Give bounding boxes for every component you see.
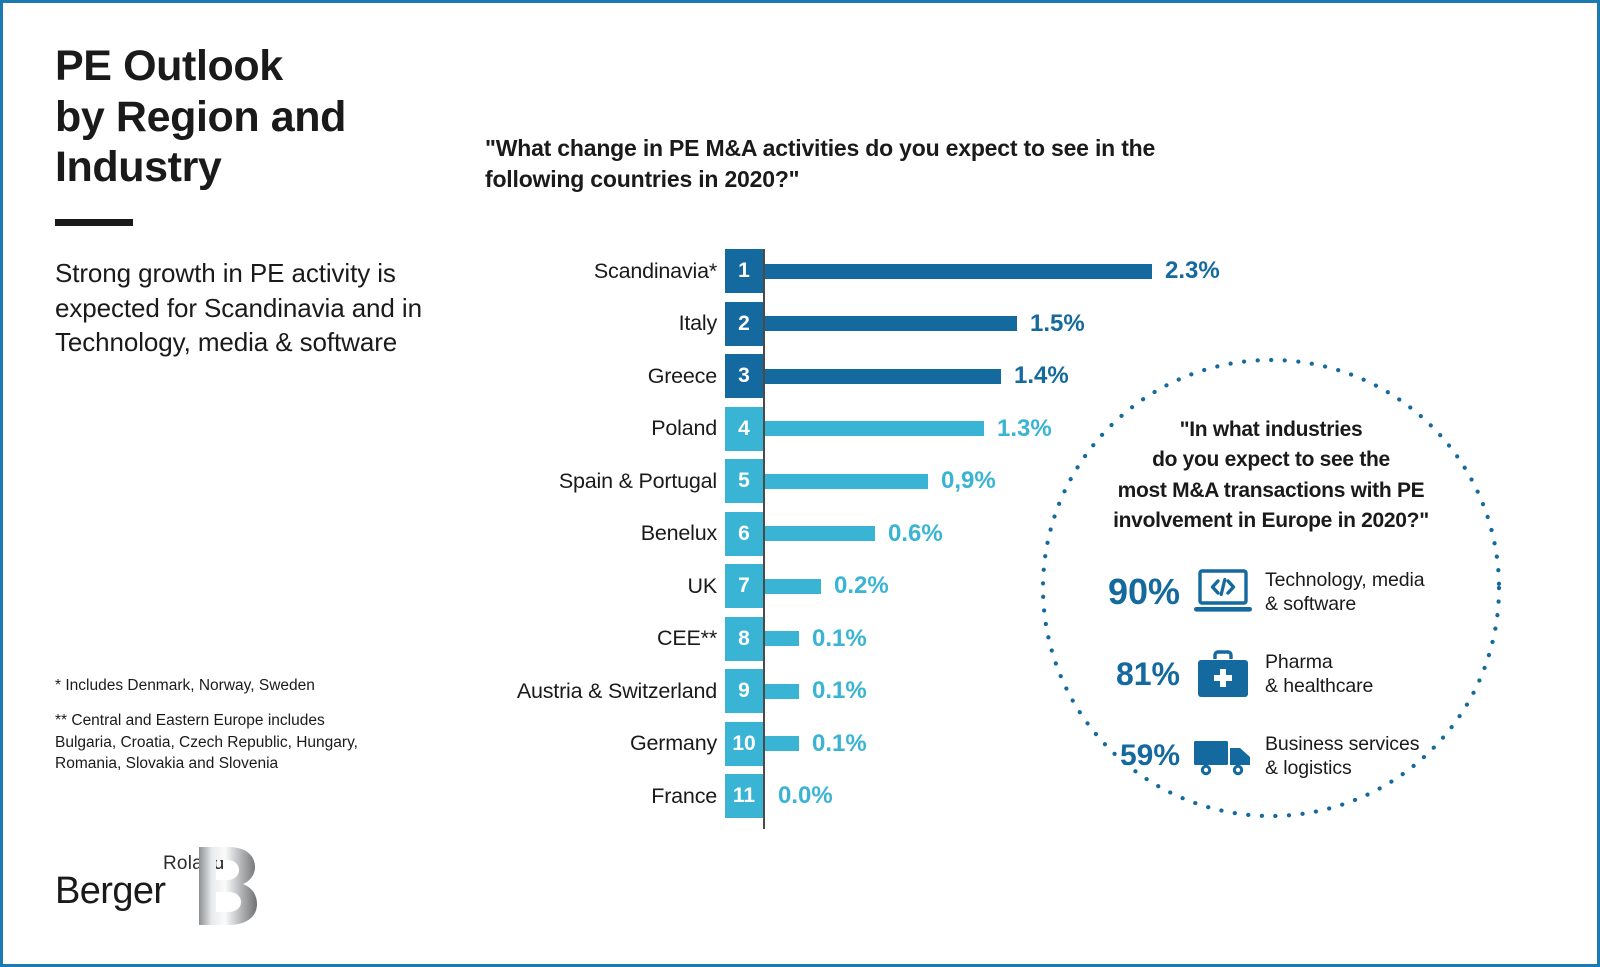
bar-row-label: CEE** <box>485 626 725 651</box>
footnote-cee: ** Central and Eastern Europe includes B… <box>55 710 465 774</box>
bar-value-label: 0.6% <box>888 520 943 548</box>
bar-wrapper: 0.0% <box>765 782 833 810</box>
bar-wrapper: 0.1% <box>765 730 867 758</box>
bar <box>765 579 821 594</box>
rank-badge: 3 <box>725 354 763 398</box>
bar-wrapper: 1.3% <box>765 415 1052 443</box>
bar <box>765 684 799 699</box>
bar-value-label: 0.1% <box>812 677 867 705</box>
bar-value-label: 0,9% <box>941 467 996 495</box>
bar-row-label: France <box>485 784 725 809</box>
bar-wrapper: 0.1% <box>765 677 867 705</box>
rank-badge: 7 <box>725 564 763 608</box>
bar-wrapper: 0.6% <box>765 520 943 548</box>
logo-b-mark <box>199 847 257 925</box>
rank-badge: 6 <box>725 512 763 556</box>
delivery-truck-icon <box>1192 735 1254 777</box>
rank-badge: 4 <box>725 407 763 451</box>
bar-value-label: 1.5% <box>1030 310 1085 338</box>
bar-wrapper: 0,9% <box>765 467 996 495</box>
bar <box>765 369 1001 384</box>
chart-question: "What change in PE M&A activities do you… <box>485 133 1185 196</box>
rank-badge: 1 <box>725 249 763 293</box>
bar-row: Scandinavia*12.3% <box>485 249 1225 293</box>
bar-row-label: Scandinavia* <box>485 259 725 284</box>
bar-wrapper: 2.3% <box>765 257 1220 285</box>
bar-wrapper: 0.2% <box>765 572 889 600</box>
bar-value-label: 0.1% <box>812 730 867 758</box>
bar-value-label: 0.2% <box>834 572 889 600</box>
bar <box>765 421 984 436</box>
footnotes: * Includes Denmark, Norway, Sweden ** Ce… <box>55 675 465 789</box>
industry-row: 59%Business services & logistics <box>1100 725 1480 787</box>
bar-row-label: Austria & Switzerland <box>485 679 725 704</box>
bar-row: Italy21.5% <box>485 302 1225 346</box>
bar-value-label: 0.1% <box>812 625 867 653</box>
bar <box>765 264 1152 279</box>
roland-berger-logo: Roland Berger <box>55 845 275 925</box>
industry-percentage: 81% <box>1100 656 1192 693</box>
rank-badge: 9 <box>725 669 763 713</box>
infographic-page: PE Outlook by Region and Industry Strong… <box>0 0 1600 967</box>
title-divider <box>55 219 133 226</box>
industry-row: 81%Pharma & healthcare <box>1100 643 1480 705</box>
industry-list: 90%Technology, media & software81%Pharma… <box>1100 561 1480 807</box>
industry-row: 90%Technology, media & software <box>1100 561 1480 623</box>
page-title: PE Outlook by Region and Industry <box>55 41 475 193</box>
bar <box>765 736 799 751</box>
industries-circle-panel: "In what industries do you expect to see… <box>1038 355 1504 821</box>
circle-question: "In what industries do you expect to see… <box>1074 415 1468 537</box>
laptop-code-icon <box>1192 569 1254 615</box>
bar-row-label: Poland <box>485 416 725 441</box>
bar-row-label: Spain & Portugal <box>485 469 725 494</box>
bar-row-label: Benelux <box>485 521 725 546</box>
bar <box>765 316 1017 331</box>
medical-briefcase-icon <box>1192 649 1254 699</box>
rank-badge: 8 <box>725 617 763 661</box>
bar-row-label: Germany <box>485 731 725 756</box>
industry-percentage: 59% <box>1100 739 1192 773</box>
bar-value-label: 0.0% <box>778 782 833 810</box>
industry-label: Pharma & healthcare <box>1254 650 1373 698</box>
page-subtitle: Strong growth in PE activity is expected… <box>55 256 475 359</box>
industry-percentage: 90% <box>1100 571 1192 613</box>
rank-badge: 5 <box>725 459 763 503</box>
industry-label: Technology, media & software <box>1254 568 1424 616</box>
bar <box>765 631 799 646</box>
bar-wrapper: 1.4% <box>765 362 1069 390</box>
rank-badge: 2 <box>725 302 763 346</box>
industry-label: Business services & logistics <box>1254 732 1419 780</box>
bar-wrapper: 0.1% <box>765 625 867 653</box>
bar-wrapper: 1.5% <box>765 310 1085 338</box>
bar-row-label: Italy <box>485 311 725 336</box>
bar <box>765 474 928 489</box>
bar <box>765 526 875 541</box>
rank-badge: 11 <box>725 774 763 818</box>
bar-row-label: UK <box>485 574 725 599</box>
footnote-scandinavia: * Includes Denmark, Norway, Sweden <box>55 675 465 696</box>
rank-badge: 10 <box>725 722 763 766</box>
left-column: PE Outlook by Region and Industry Strong… <box>55 41 475 359</box>
bar-value-label: 2.3% <box>1165 257 1220 285</box>
bar-row-label: Greece <box>485 364 725 389</box>
